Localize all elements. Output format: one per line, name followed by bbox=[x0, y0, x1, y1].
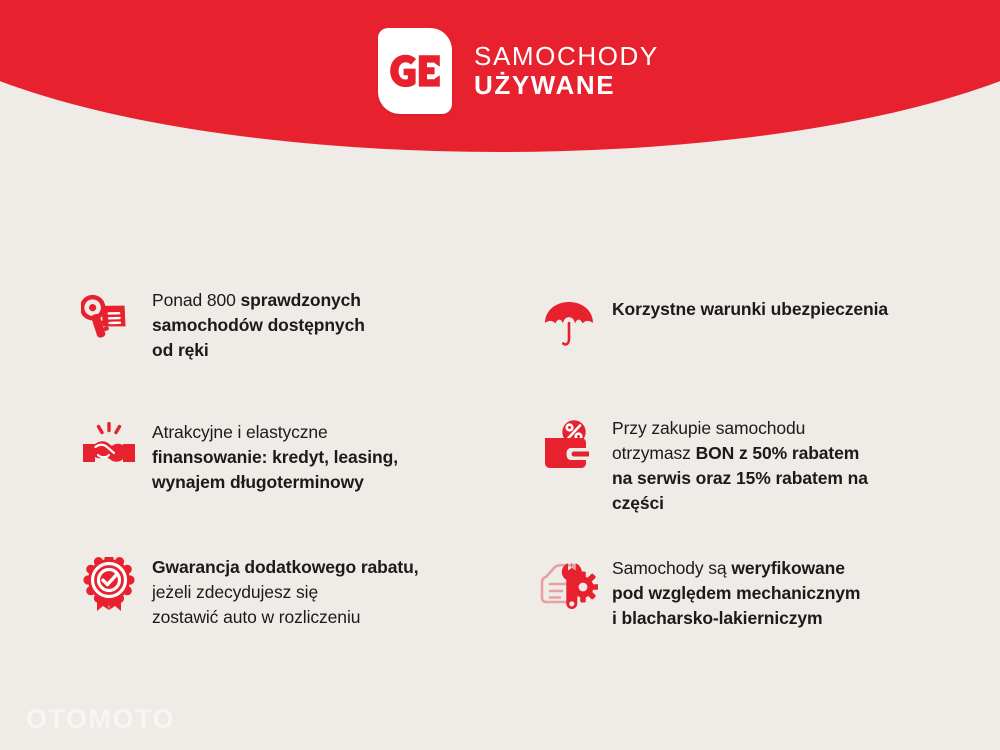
handshake-icon bbox=[78, 420, 140, 484]
car-keys-icon bbox=[78, 288, 140, 352]
features-column-right: Korzystne warunki ubezpieczenia bbox=[538, 270, 998, 631]
logo-wordmark: SAMOCHODY UŻYWANE bbox=[474, 43, 659, 98]
logo-line-1: SAMOCHODY bbox=[474, 43, 659, 70]
text-run-bold: Korzystne warunki ubezpieczenia bbox=[612, 299, 888, 319]
text-run-normal: Przy zakupie samochodu bbox=[612, 418, 805, 438]
text-run-bold: pod względem mechanicznym bbox=[612, 583, 860, 603]
text-run-bold: samochodów dostępnych bbox=[152, 315, 365, 335]
feature-text-voucher: Przy zakupie samochoduotrzymasz BON z 50… bbox=[612, 416, 868, 516]
features-column-left: Ponad 800 sprawdzonychsamochodów dostępn… bbox=[78, 270, 538, 631]
logo-line-2: UŻYWANE bbox=[474, 72, 659, 99]
feature-item-insurance: Korzystne warunki ubezpieczenia bbox=[538, 297, 998, 361]
text-run-bold: BON z 50% rabatem bbox=[696, 443, 860, 463]
text-run-normal: otrzymasz bbox=[612, 443, 696, 463]
text-run-bold: sprawdzonych bbox=[241, 290, 361, 310]
text-run-normal: Ponad 800 bbox=[152, 290, 241, 310]
watermark-text: OTOMOTO bbox=[26, 704, 175, 734]
text-run-bold: weryfikowane bbox=[731, 558, 845, 578]
text-run-bold: części bbox=[612, 493, 664, 513]
text-run-normal: zostawić auto w rozliczeniu bbox=[152, 607, 360, 627]
text-run-bold: finansowanie: kredyt, leasing, bbox=[152, 447, 398, 467]
feature-item-verified: Samochody są weryfikowanepod względem me… bbox=[538, 556, 998, 631]
feature-text-finance: Atrakcyjne i elastycznefinansowanie: kre… bbox=[152, 420, 398, 495]
text-run-bold: wynajem długoterminowy bbox=[152, 472, 364, 492]
car-wrench-gear-icon bbox=[538, 556, 600, 620]
text-run-bold: Gwarancja dodatkowego rabatu, bbox=[152, 557, 418, 577]
feature-text-insurance: Korzystne warunki ubezpieczenia bbox=[612, 297, 888, 322]
feature-item-finance: Atrakcyjne i elastycznefinansowanie: kre… bbox=[78, 420, 538, 495]
feature-item-guarantee: Gwarancja dodatkowego rabatu,jeżeli zdec… bbox=[78, 555, 538, 630]
text-run-bold: od ręki bbox=[152, 340, 209, 360]
text-run-bold: i blacharsko-lakierniczym bbox=[612, 608, 823, 628]
feature-text-guarantee: Gwarancja dodatkowego rabatu,jeżeli zdec… bbox=[152, 555, 418, 630]
features-grid: Ponad 800 sprawdzonychsamochodów dostępn… bbox=[0, 270, 1000, 631]
otomoto-watermark: OTOMOTO bbox=[26, 702, 186, 736]
feature-item-keys: Ponad 800 sprawdzonychsamochodów dostępn… bbox=[78, 288, 538, 363]
umbrella-icon bbox=[538, 297, 600, 361]
text-run-bold: na serwis oraz 15% rabatem na bbox=[612, 468, 868, 488]
text-run-normal: Samochody są bbox=[612, 558, 731, 578]
award-badge-icon bbox=[78, 555, 140, 619]
gb-logo-mark bbox=[378, 28, 452, 114]
feature-item-voucher: Przy zakupie samochoduotrzymasz BON z 50… bbox=[538, 416, 998, 516]
brand-logo[interactable]: SAMOCHODY UŻYWANE bbox=[378, 28, 659, 114]
feature-text-verified: Samochody są weryfikowanepod względem me… bbox=[612, 556, 860, 631]
wallet-discount-icon bbox=[538, 416, 600, 480]
text-run-normal: Atrakcyjne i elastyczne bbox=[152, 422, 328, 442]
feature-text-keys: Ponad 800 sprawdzonychsamochodów dostępn… bbox=[152, 288, 365, 363]
text-run-normal: jeżeli zdecydujesz się bbox=[152, 582, 318, 602]
